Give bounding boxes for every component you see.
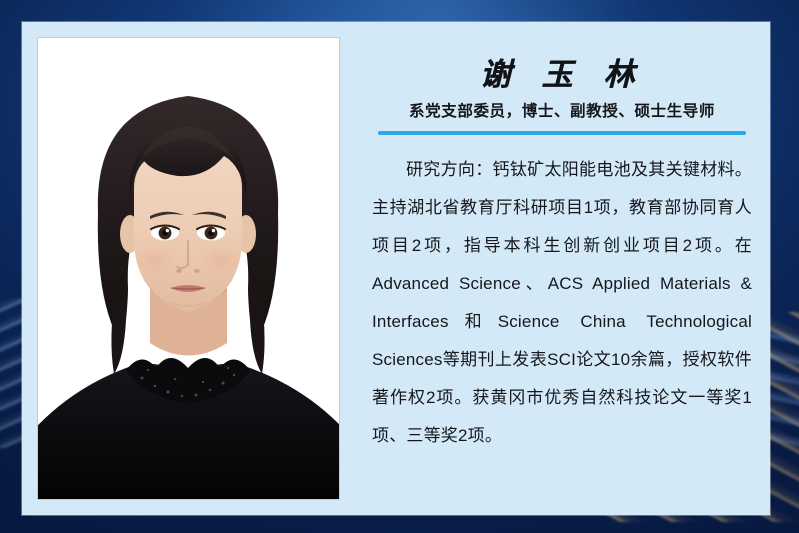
title-divider xyxy=(378,131,746,135)
person-name: 谢 玉 林 xyxy=(370,38,754,92)
profile-info: 谢 玉 林 系党支部委员，博士、副教授、硕士生导师 研究方向：钙钛矿太阳能电池及… xyxy=(370,38,754,499)
profile-card-slide: 谢 玉 林 系党支部委员，博士、副教授、硕士生导师 研究方向：钙钛矿太阳能电池及… xyxy=(0,0,799,533)
person-role: 系党支部委员，博士、副教授、硕士生导师 xyxy=(370,103,754,122)
content-card: 谢 玉 林 系党支部委员，博士、副教授、硕士生导师 研究方向：钙钛矿太阳能电池及… xyxy=(22,22,770,515)
person-bio: 研究方向：钙钛矿太阳能电池及其关键材料。主持湖北省教育厅科研项目1项，教育部协同… xyxy=(370,151,754,455)
portrait-illustration xyxy=(38,38,339,499)
portrait-photo xyxy=(38,38,339,499)
